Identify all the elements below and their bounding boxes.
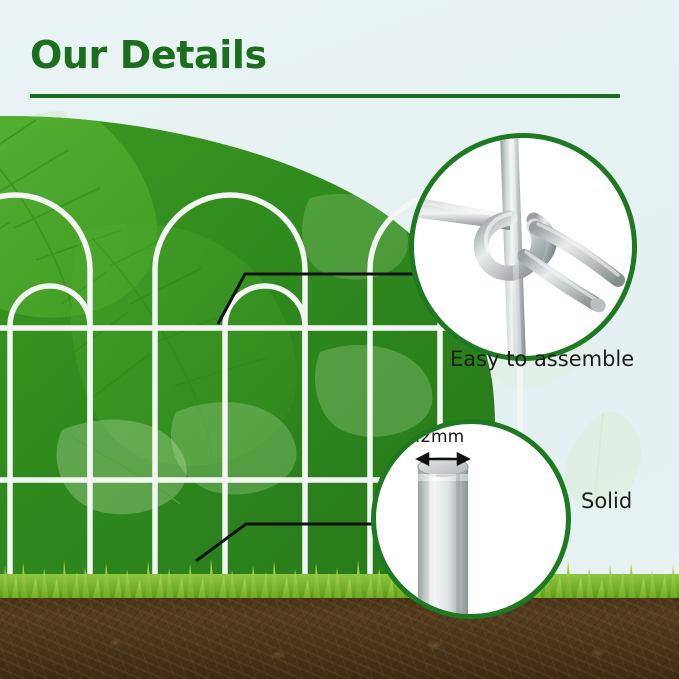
page-title: Our Details (30, 36, 650, 76)
callout-label-solid: Solid (581, 489, 632, 513)
title-block: Our Details (30, 36, 650, 98)
callout-solid-rod[interactable]: 3.2mm (371, 419, 571, 619)
infographic-canvas: 3.2mm Our Details Easy to assemble Solid (0, 0, 679, 679)
title-divider (30, 94, 620, 98)
callout-label-easy-to-assemble: Easy to assemble (450, 347, 634, 371)
rod-diameter-label: 3.2mm (404, 427, 464, 447)
callout-easy-to-assemble[interactable] (409, 133, 637, 361)
